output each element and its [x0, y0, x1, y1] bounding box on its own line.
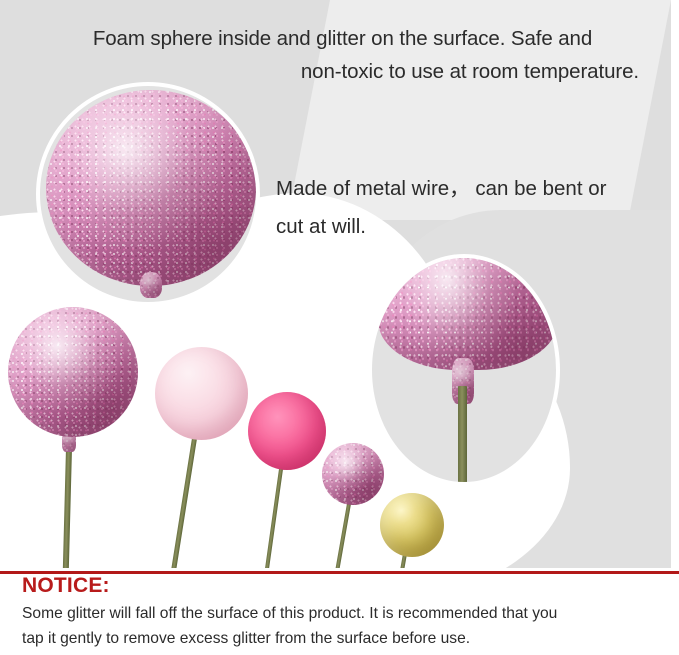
feature-line-1: Made of metal wire， can be bent or	[276, 170, 668, 208]
closeup-green-wire-stem	[458, 386, 467, 486]
small-glitter-pink-sphere	[322, 443, 384, 505]
feature-line-2: cut at will.	[276, 208, 668, 246]
hot-pink-matte-sphere	[248, 392, 326, 470]
large-glitter-pink-sphere	[8, 307, 138, 437]
background-right-margin	[671, 0, 679, 573]
headline-line-1: Foam sphere inside and glitter on the su…	[30, 22, 655, 55]
closeup-sphere-underside	[378, 254, 558, 370]
headline-line-2: non-toxic to use at room temperature.	[30, 55, 655, 88]
gold-metallic-sphere	[380, 493, 444, 557]
feature-text: Made of metal wire， can be bent or cut a…	[276, 170, 668, 246]
headline-text: Foam sphere inside and glitter on the su…	[30, 22, 655, 88]
callout-wire-stem-image	[372, 258, 556, 482]
notice-line-1: Some glitter will fall off the surface o…	[22, 601, 667, 626]
light-pink-matte-sphere	[155, 347, 248, 440]
callout-glitter-sphere-closeup	[36, 82, 260, 306]
callout-glitter-sphere-image	[40, 86, 256, 302]
closeup-sphere-wire-tip	[140, 272, 162, 298]
notice-line-2: tap it gently to remove excess glitter f…	[22, 626, 667, 651]
notice-body: Some glitter will fall off the surface o…	[22, 601, 667, 651]
closeup-glitter-sphere	[46, 90, 256, 286]
product-infographic: Foam sphere inside and glitter on the su…	[0, 0, 679, 655]
notice-title: NOTICE:	[22, 574, 110, 598]
callout-wire-stem-closeup	[368, 254, 560, 486]
